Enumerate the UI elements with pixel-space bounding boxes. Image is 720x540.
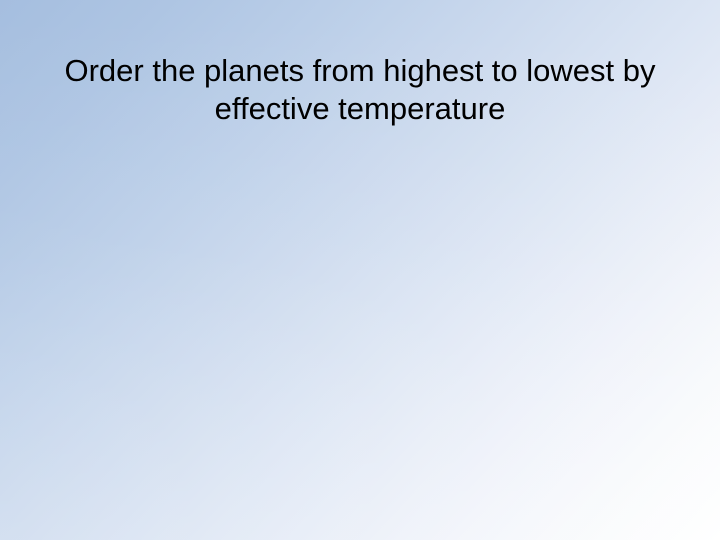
slide-body-placeholder xyxy=(36,150,684,500)
page-title: Order the planets from highest to lowest… xyxy=(36,52,684,128)
slide-canvas: Order the planets from highest to lowest… xyxy=(0,0,720,540)
slide-title-placeholder[interactable]: Order the planets from highest to lowest… xyxy=(36,52,684,128)
